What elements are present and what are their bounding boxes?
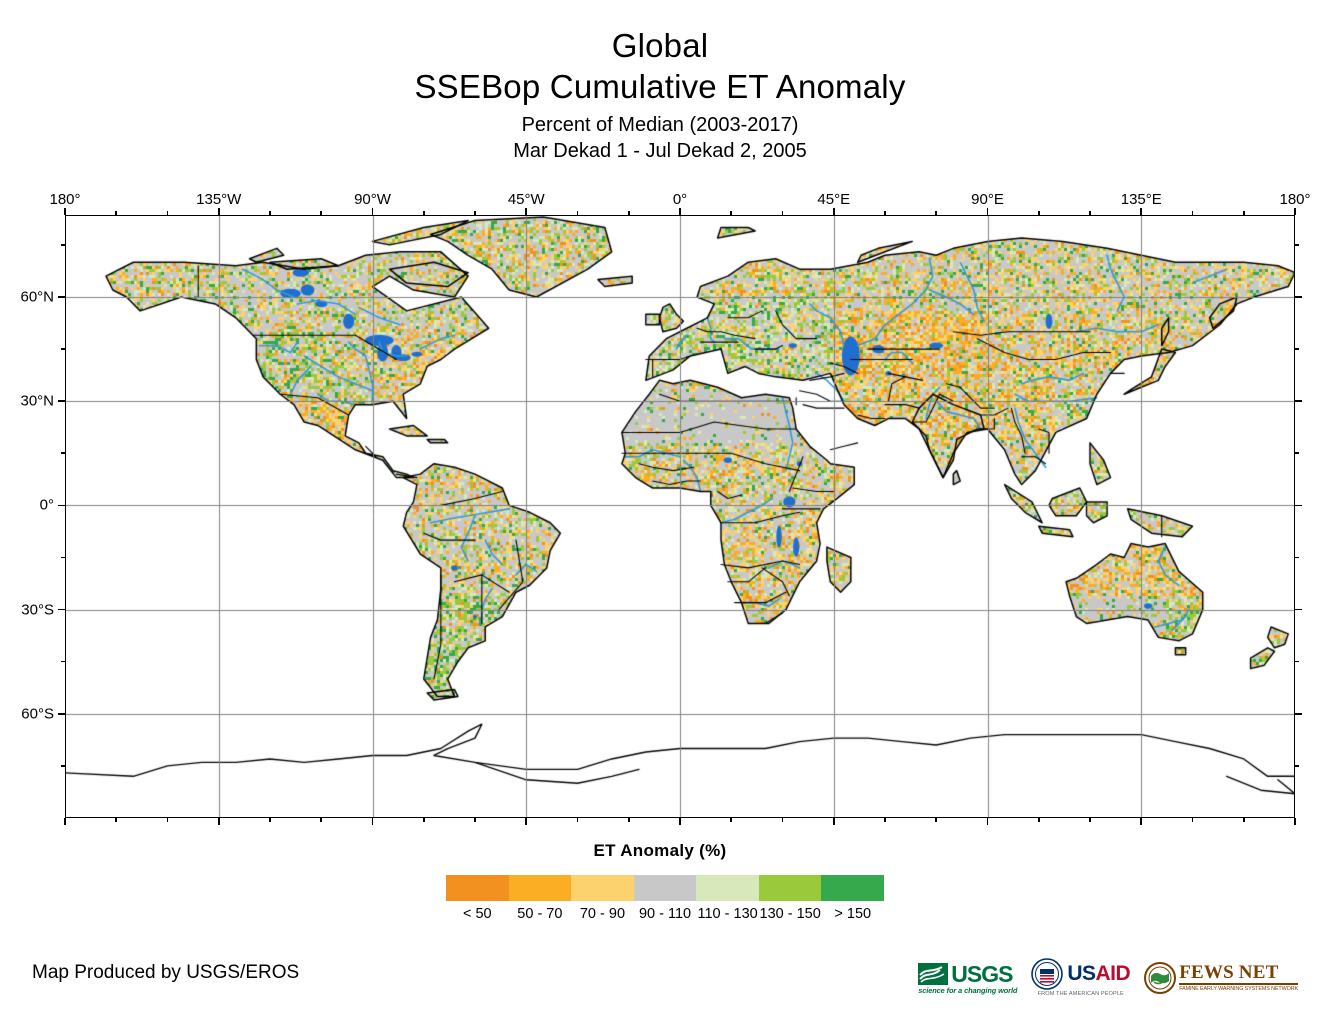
legend-title: ET Anomaly (%) [0, 841, 1320, 861]
lon-tick-5 [833, 208, 835, 215]
legend-label-2: 70 - 90 [571, 903, 634, 925]
lon-tick-1 [218, 208, 220, 215]
minor-lon-tick-bottom [1089, 818, 1091, 822]
fews-net-tagline: FAMINE EARLY WARNING SYSTEMS NETWORK [1179, 985, 1298, 993]
lat-tick-4 [58, 713, 65, 715]
minor-lon-tick-bottom [884, 818, 886, 822]
lat-tick-right-2 [1295, 505, 1302, 507]
minor-lon-tick-bottom [730, 818, 732, 822]
legend-swatch-0 [446, 875, 509, 901]
lon-tick-0 [64, 208, 66, 215]
lat-tick-right-3 [1295, 609, 1302, 611]
legend: ET Anomaly (%) [0, 841, 1320, 861]
usaid-logo: USAID FROM THE AMERICAN PEOPLE [1031, 958, 1130, 998]
minor-lon-tick-bottom [474, 818, 476, 822]
lon-label-4: 0° [673, 191, 687, 208]
lat-label-4: 60°S [0, 705, 54, 722]
lon-tick-2 [372, 208, 374, 215]
legend-swatch-6 [821, 875, 884, 901]
usaid-seal-icon [1031, 958, 1063, 990]
map-title-line2: SSEBop Cumulative ET Anomaly [0, 66, 1320, 108]
minor-lat-tick-right [1295, 452, 1299, 454]
agency-logos: USGS science for a changing world USAID … [918, 955, 1298, 1001]
minor-lat-tick-right [1295, 765, 1299, 767]
lon-label-7: 135°E [1121, 191, 1162, 208]
minor-lon-tick-bottom [167, 818, 169, 822]
lon-tick-bottom-2 [372, 818, 374, 825]
minor-lon-tick-bottom [577, 818, 579, 822]
lon-tick-bottom-4 [679, 818, 681, 825]
legend-label-6: > 150 [821, 903, 884, 925]
lon-tick-4 [679, 208, 681, 215]
usgs-wordmark: USGS [951, 962, 1012, 986]
lon-label-2: 90°W [354, 191, 391, 208]
lon-tick-bottom-8 [1294, 818, 1296, 825]
usaid-wordmark: USAID [1067, 963, 1130, 985]
usaid-word-us: US [1067, 962, 1095, 985]
lat-label-0: 60°N [0, 288, 54, 305]
lon-tick-bottom-3 [525, 818, 527, 825]
legend-swatch-4 [696, 875, 759, 901]
lat-tick-2 [58, 505, 65, 507]
lon-tick-bottom-1 [218, 818, 220, 825]
lon-label-8: 180° [1279, 191, 1310, 208]
world-anomaly-raster[interactable] [65, 215, 1295, 818]
minor-lon-tick-bottom [935, 818, 937, 822]
usaid-tagline: FROM THE AMERICAN PEOPLE [1038, 990, 1124, 998]
map-credit: Map Produced by USGS/EROS [32, 962, 299, 984]
lat-tick-0 [58, 296, 65, 298]
minor-lat-tick-right [1295, 661, 1299, 663]
lat-label-2: 0° [0, 497, 54, 514]
legend-label-5: 130 - 150 [759, 903, 822, 925]
legend-label-1: 50 - 70 [509, 903, 572, 925]
fews-net-text: FEWS NET FAMINE EARLY WARNING SYSTEMS NE… [1179, 963, 1298, 992]
minor-lon-tick-bottom [1038, 818, 1040, 822]
lon-tick-6 [987, 208, 989, 215]
usgs-tagline: science for a changing world [918, 986, 1017, 995]
usgs-logo: USGS science for a changing world [918, 962, 1017, 995]
usgs-logo-top: USGS [918, 962, 1012, 986]
legend-color-bar [446, 875, 884, 901]
minor-lat-tick-right [1295, 244, 1299, 246]
lat-tick-right-4 [1295, 713, 1302, 715]
legend-swatch-3 [634, 875, 697, 901]
lon-label-6: 90°E [971, 191, 1004, 208]
lon-tick-7 [1140, 208, 1142, 215]
legend-label-3: 90 - 110 [634, 903, 697, 925]
lat-label-3: 30°S [0, 601, 54, 618]
minor-lon-tick-bottom [782, 818, 784, 822]
lat-tick-right-1 [1295, 400, 1302, 402]
fews-net-logo: FEWS NET FAMINE EARLY WARNING SYSTEMS NE… [1144, 962, 1298, 994]
lon-tick-bottom-5 [833, 818, 835, 825]
fews-globe-icon [1144, 962, 1176, 994]
legend-swatch-5 [759, 875, 822, 901]
usgs-wave-icon [918, 963, 948, 985]
lon-tick-bottom-0 [64, 818, 66, 825]
lon-label-0: 180° [49, 191, 80, 208]
lat-tick-1 [58, 400, 65, 402]
lat-label-1: 30°N [0, 393, 54, 410]
map-subtitle-daterange: Mar Dekad 1 - Jul Dekad 2, 2005 [0, 138, 1320, 164]
lon-tick-bottom-7 [1140, 818, 1142, 825]
minor-lon-tick-bottom [1243, 818, 1245, 822]
minor-lat-tick-right [1295, 348, 1299, 350]
lon-tick-8 [1294, 208, 1296, 215]
fews-net-wordmark: FEWS NET [1179, 963, 1278, 983]
legend-label-4: 110 - 130 [696, 903, 759, 925]
minor-lon-tick-bottom [320, 818, 322, 822]
map-subtitle-period: Percent of Median (2003-2017) [0, 112, 1320, 138]
lon-tick-3 [525, 208, 527, 215]
usaid-logo-row: USAID [1031, 958, 1130, 990]
lon-tick-bottom-6 [987, 818, 989, 825]
lon-label-1: 135°W [196, 191, 241, 208]
legend-label-0: < 50 [446, 903, 509, 925]
lon-label-3: 45°W [508, 191, 545, 208]
lon-label-5: 45°E [817, 191, 850, 208]
minor-lon-tick-bottom [628, 818, 630, 822]
title-block: Global SSEBop Cumulative ET Anomaly Perc… [0, 26, 1320, 164]
minor-lon-tick-bottom [423, 818, 425, 822]
map-plot-area[interactable] [65, 215, 1295, 818]
legend-swatch-1 [509, 875, 572, 901]
lat-tick-3 [58, 609, 65, 611]
minor-lon-tick-bottom [1192, 818, 1194, 822]
minor-lon-tick-bottom [269, 818, 271, 822]
map-title-line1: Global [0, 26, 1320, 66]
minor-lon-tick-bottom [115, 818, 117, 822]
legend-swatch-2 [571, 875, 634, 901]
lat-tick-right-0 [1295, 296, 1302, 298]
minor-lat-tick-right [1295, 557, 1299, 559]
usaid-word-aid: AID [1096, 962, 1131, 985]
legend-labels-row: < 5050 - 7070 - 9090 - 110110 - 130130 -… [446, 903, 884, 925]
